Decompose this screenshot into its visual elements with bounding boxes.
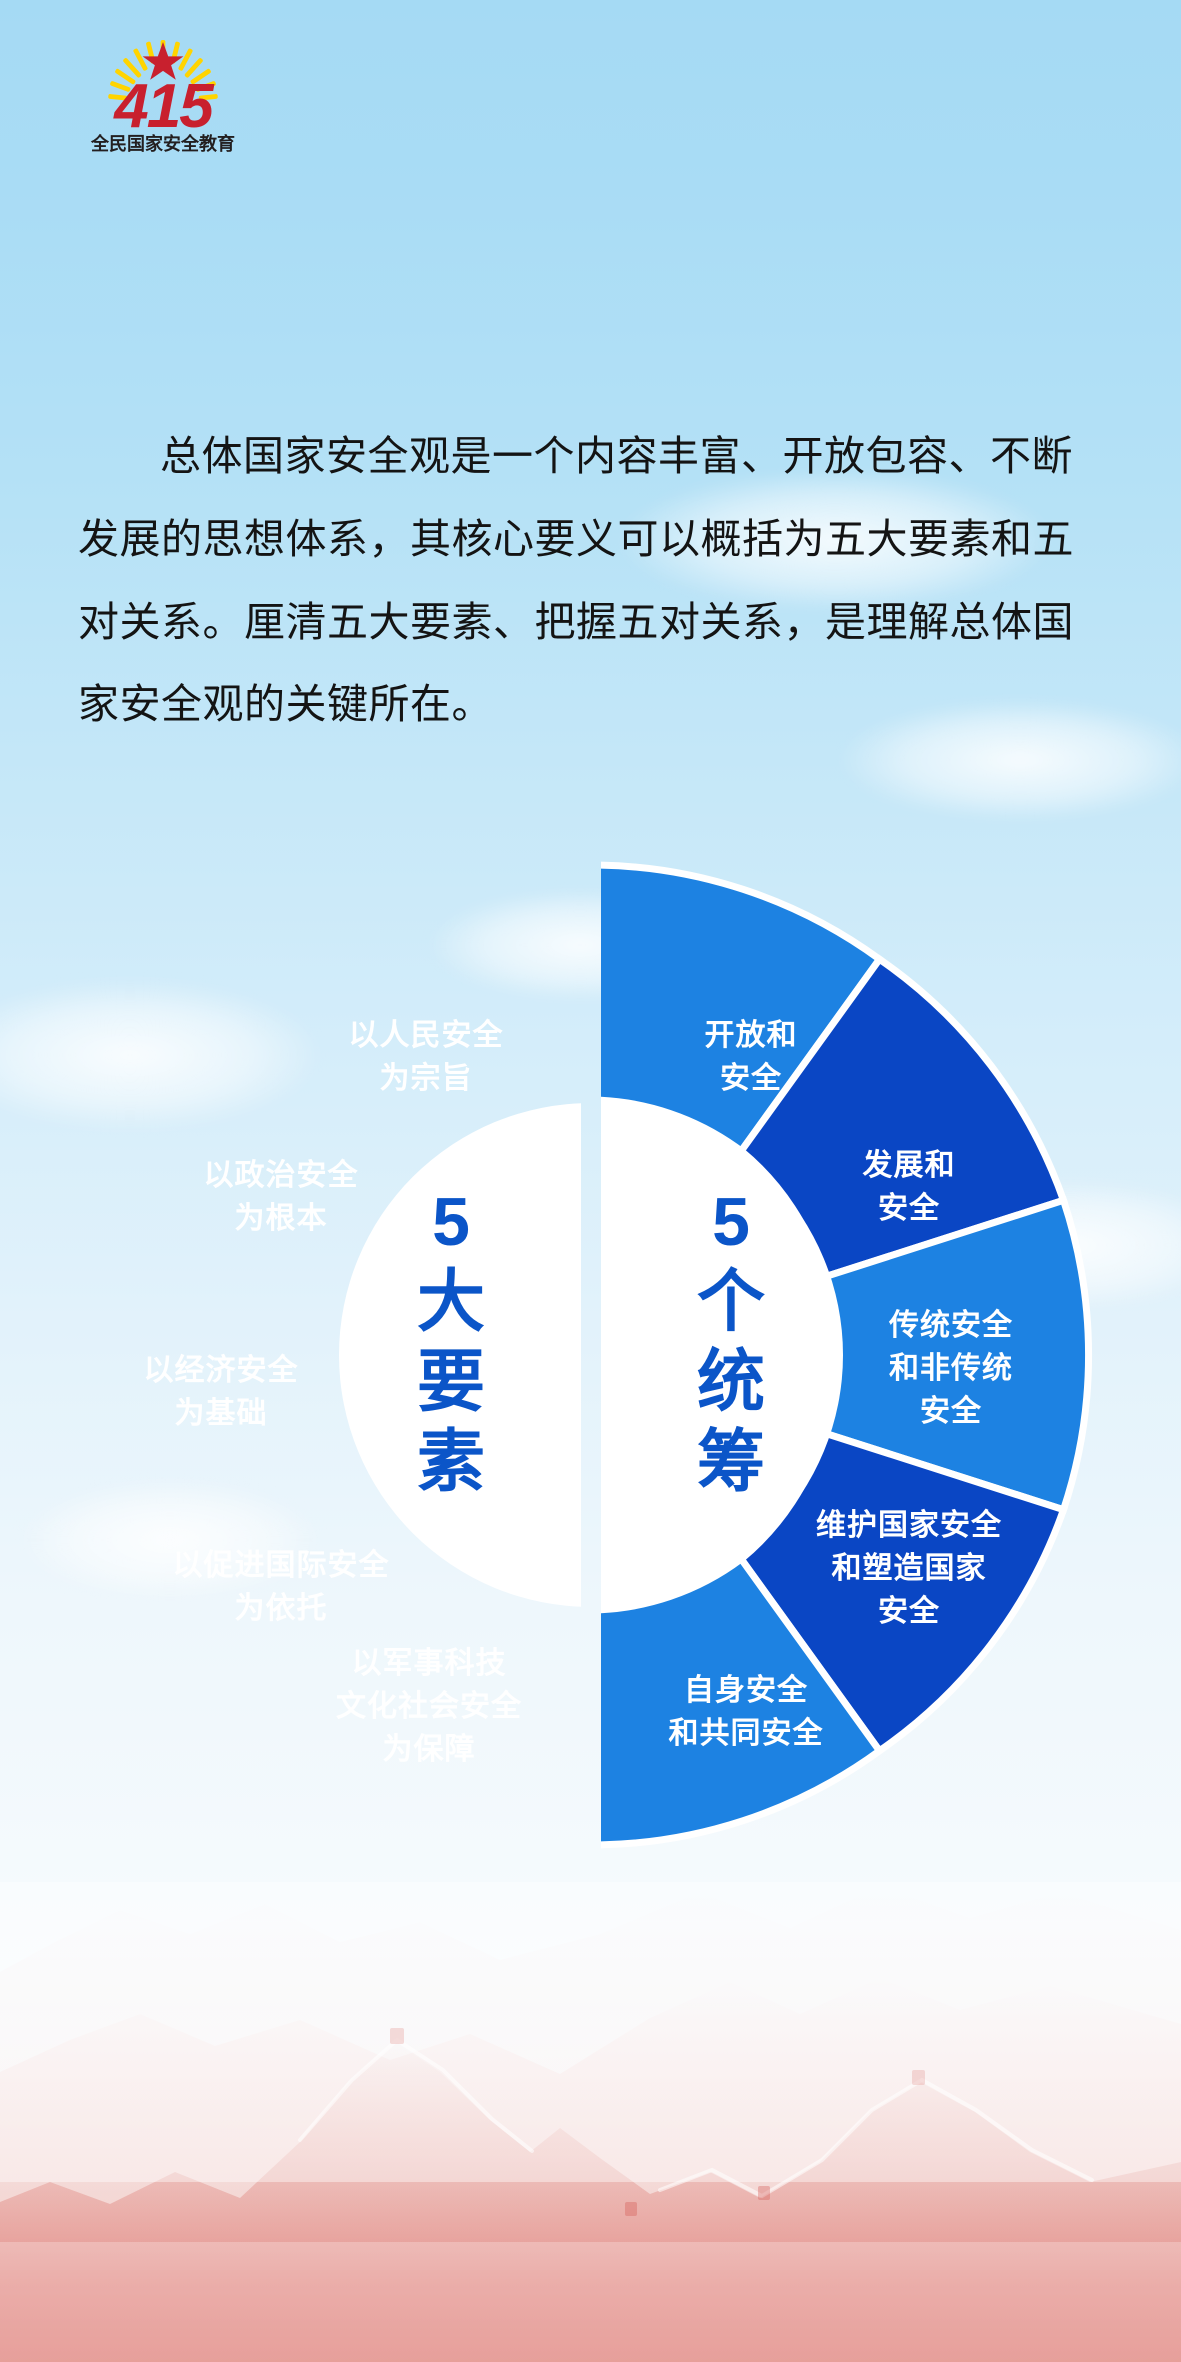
label-safeguard-line2: 和塑造国家	[831, 1552, 986, 1585]
security-concept-wheel: 以人民安全 为宗旨 以政治安全 为根本 以经济安全 为基础 以促进国际安全 为依…	[81, 845, 1101, 1865]
right-hub-char-1: 5	[712, 1184, 750, 1260]
label-people-line2: 为宗旨	[379, 1061, 472, 1095]
left-hub-char-2: 大	[416, 1264, 484, 1340]
logo-graphic: 415 全民国家安全教育	[58, 30, 268, 155]
label-own-common-line1: 自身安全	[684, 1673, 808, 1707]
label-traditional-line1: 传统安全	[888, 1308, 1013, 1342]
label-military: 以军事科技 文化社会安全 为保障	[336, 1647, 522, 1766]
label-openness-line1: 开放和	[704, 1019, 797, 1052]
label-own-common-line2: 和共同安全	[668, 1716, 823, 1750]
label-people-line1: 以人民安全	[348, 1018, 503, 1052]
left-hub-char-4: 素	[416, 1424, 484, 1500]
right-hub-char-3: 统	[696, 1344, 764, 1420]
wheel-diagram: 以人民安全 为宗旨 以政治安全 为根本 以经济安全 为基础 以促进国际安全 为依…	[81, 845, 1101, 1865]
logo-number: 415	[112, 72, 215, 141]
label-development-line2: 安全	[878, 1191, 940, 1225]
intro-paragraph: 总体国家安全观是一个内容丰富、开放包容、不断发展的思想体系，其核心要义可以概括为…	[78, 415, 1108, 746]
left-hub-char-3: 要	[416, 1344, 484, 1420]
label-military-line1: 以军事科技	[351, 1647, 506, 1680]
right-hub-char-4: 筹	[696, 1424, 764, 1500]
label-safeguard-line1: 维护国家安全	[816, 1508, 1002, 1542]
logo-caption: 全民国家安全教育	[90, 133, 235, 154]
label-politics-line2: 为根本	[234, 1202, 327, 1235]
label-international-line1: 以促进国际安全	[172, 1548, 389, 1582]
label-traditional-line3: 安全	[920, 1394, 982, 1428]
label-politics-line1: 以政治安全	[203, 1158, 358, 1192]
label-economy-line2: 为基础	[174, 1397, 267, 1430]
label-military-line3: 为保障	[382, 1732, 475, 1766]
label-military-line2: 文化社会安全	[336, 1689, 522, 1723]
label-openness-line2: 安全	[720, 1061, 782, 1095]
label-development-line1: 发展和	[861, 1149, 955, 1182]
label-politics: 以政治安全 为根本	[203, 1158, 358, 1235]
label-traditional-line2: 和非传统	[889, 1351, 1013, 1385]
label-people: 以人民安全 为宗旨	[348, 1018, 503, 1095]
label-economy-line1: 以经济安全	[143, 1353, 298, 1387]
left-hub-char-1: 5	[432, 1184, 470, 1260]
label-international: 以促进国际安全 为依托	[172, 1548, 389, 1625]
label-international-line2: 为依托	[234, 1592, 327, 1625]
label-economy: 以经济安全 为基础	[143, 1353, 298, 1430]
right-hub-char-2: 个	[696, 1264, 764, 1340]
label-safeguard-line3: 安全	[878, 1594, 940, 1628]
national-security-education-logo: 415 全民国家安全教育	[58, 30, 268, 155]
